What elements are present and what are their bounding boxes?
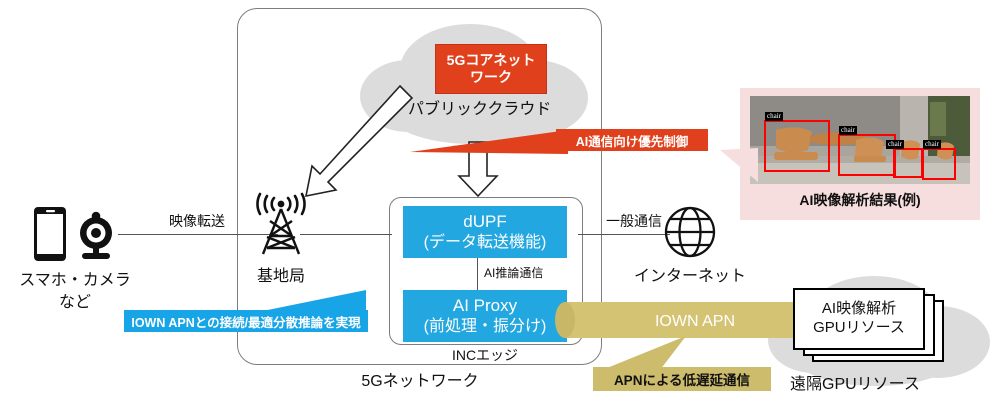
callout-low-latency[interactable]: APNによる低遅延通信 <box>593 367 771 391</box>
base-station-label: 基地局 <box>230 262 332 286</box>
detection-box-1 <box>764 120 830 172</box>
ai-proxy-subtitle: (前処理・振分け) <box>424 317 547 336</box>
detection-label-2: chair <box>839 126 857 135</box>
dupf-subtitle: (データ転送機能) <box>424 233 547 252</box>
smartphone-icon <box>33 206 67 262</box>
dupf-title: dUPF <box>463 212 506 232</box>
ai-proxy-box[interactable]: AI Proxy (前処理・振分け) <box>403 290 567 342</box>
ai-result-panel: chair chair chair chair AI映像解析結果(例) <box>740 88 980 220</box>
arrow-cloud-to-basestation <box>288 78 418 208</box>
camera-icon <box>74 209 118 262</box>
internet-label: インターネット <box>612 262 768 286</box>
red-callout-leader <box>408 128 568 162</box>
detection-label-3: chair <box>886 140 904 149</box>
detection-label-1: chair <box>765 112 783 121</box>
public-cloud-label: パブリッククラウド <box>408 95 551 119</box>
ai-result-caption: AI映像解析結果(例) <box>740 190 980 210</box>
inc-edge-label: INCエッジ <box>389 345 581 365</box>
wire-dupf-to-aiproxy <box>477 258 478 292</box>
iown-apn-pipe-label: IOWN APN <box>655 313 735 330</box>
callout-iown-apn-connection[interactable]: IOWN APNとの接続/最適分散推論を実現 <box>124 310 368 332</box>
link-label-ai-inference: AI推論通信 <box>484 264 543 281</box>
detection-box-4 <box>922 148 956 180</box>
callout-ai-priority-control[interactable]: AI通信向け優先制御 <box>556 129 708 151</box>
ai-proxy-title: AI Proxy <box>453 296 517 316</box>
gpu-card-line1: AI映像解析 <box>822 300 896 319</box>
gpu-card-line2: GPUリソース <box>813 319 905 338</box>
devices-label-line1: スマホ・カメラ <box>0 266 150 290</box>
remote-gpu-label: 遠隔GPUリソース <box>790 370 920 394</box>
core-network-line1: 5Gコアネット <box>447 52 536 68</box>
wire-edge-to-internet <box>578 234 670 235</box>
5g-network-label: 5Gネットワーク <box>280 367 560 391</box>
link-label-general-comm: 一般通信 <box>594 211 674 231</box>
wire-basestation-to-edge <box>300 234 392 235</box>
gpu-card-front[interactable]: AI映像解析 GPUリソース <box>793 288 925 350</box>
link-label-video-transfer: 映像転送 <box>142 211 252 231</box>
ai-result-photo: chair chair chair chair <box>750 96 970 184</box>
core-network-line2: ワーク <box>470 69 512 85</box>
dupf-box[interactable]: dUPF (データ転送機能) <box>403 206 567 258</box>
detection-label-4: chair <box>923 140 941 149</box>
diagram-canvas: 5Gネットワーク INCエッジ スマホ・カメラ など <box>0 0 1000 407</box>
detection-box-3 <box>893 148 923 178</box>
ai-result-pointer <box>718 148 758 196</box>
devices-label-line2: など <box>0 288 150 312</box>
core-network-box[interactable]: 5Gコアネット ワーク <box>435 44 547 94</box>
